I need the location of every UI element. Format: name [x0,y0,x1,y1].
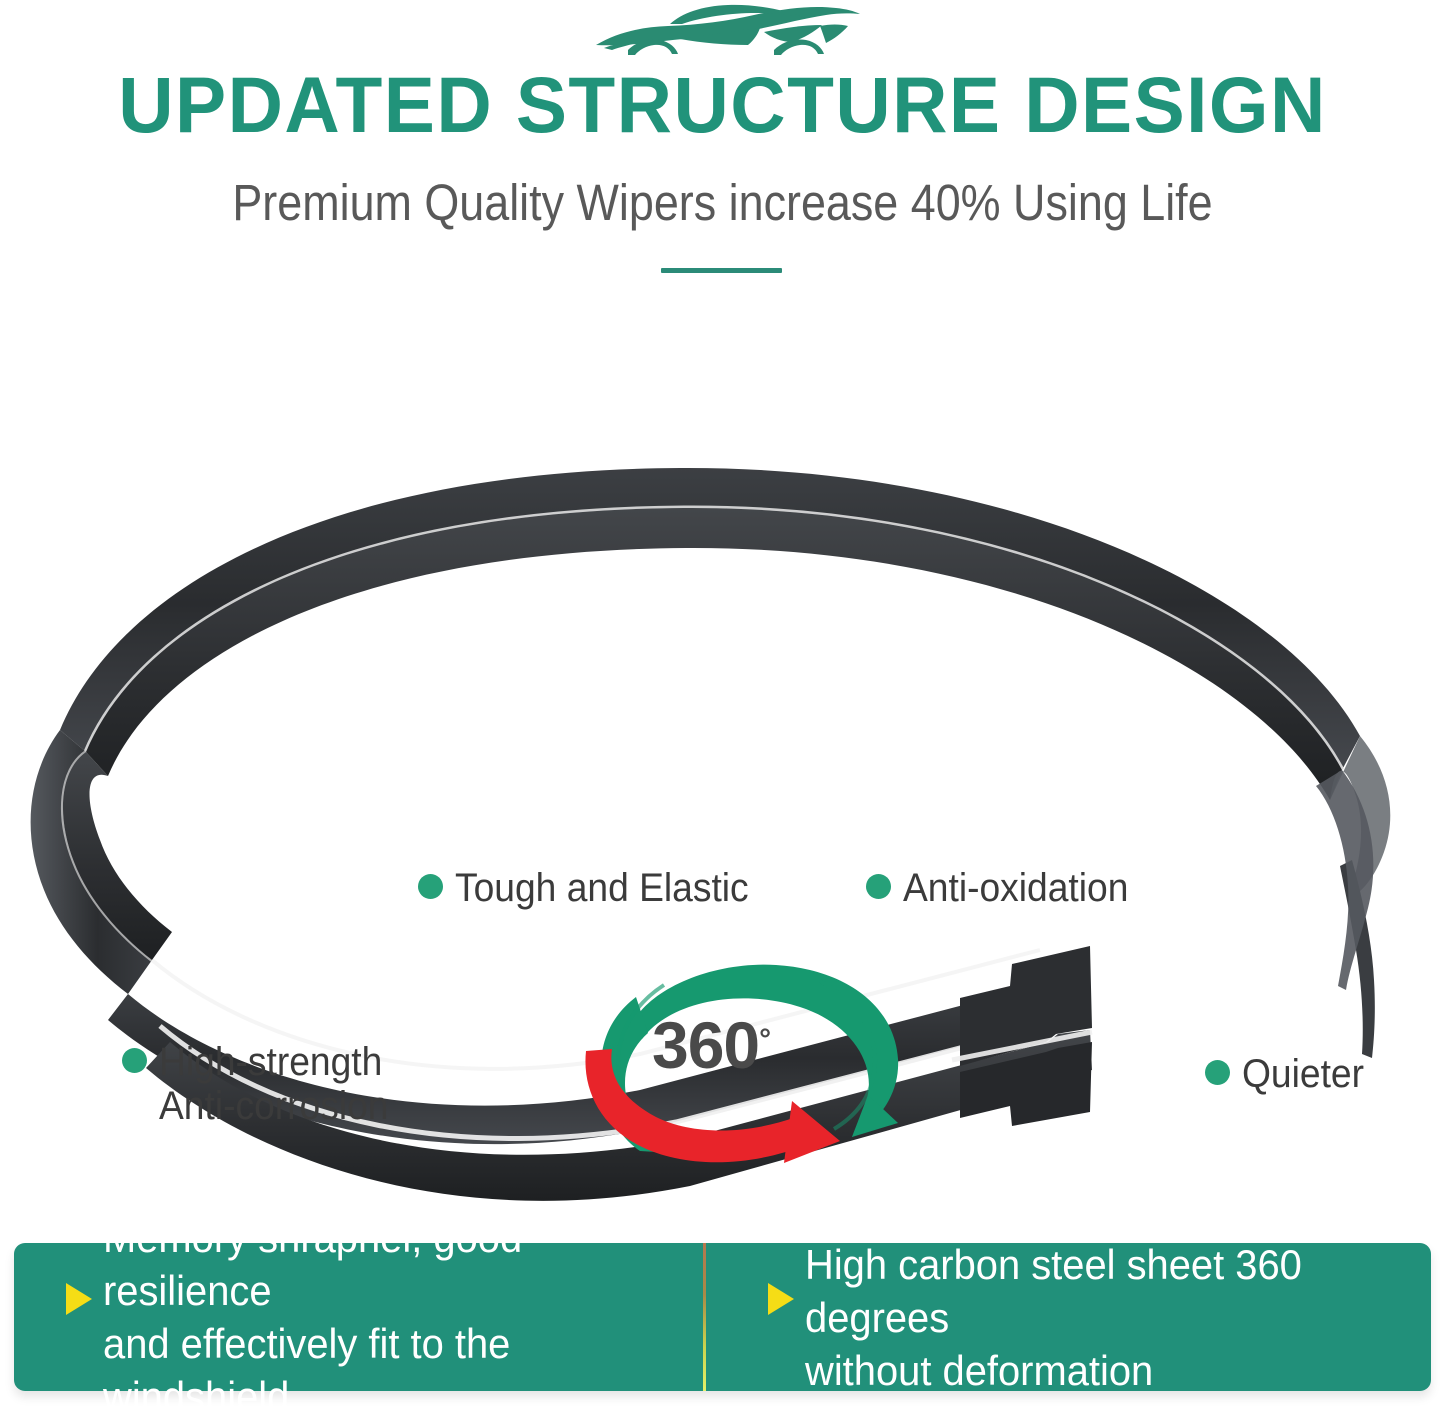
bullet-dot-icon [122,1048,147,1073]
car-silhouette-icon [578,2,868,60]
feature-quieter: Quieter [1205,1052,1373,1096]
feature-label: Quieter [1242,1052,1364,1096]
badge-value: 360° [652,1012,770,1078]
banner-item-text: Memory shrapnel, good resilience and eff… [103,1211,673,1423]
page-subtitle: Premium Quality Wipers increase 40% Usin… [87,172,1359,234]
banner-item-text: High carbon steel sheet 360 degrees with… [805,1238,1400,1397]
feature-high-strength-anti-corrosion: High-strength Anti-corrosion [122,1040,406,1128]
feature-anti-oxidation: Anti-oxidation [866,866,1145,910]
bottom-feature-banner: Memory shrapnel, good resilience and eff… [14,1243,1431,1391]
bullet-dot-icon [418,874,443,899]
feature-tough-and-elastic: Tough and Elastic [418,866,771,910]
feature-label: Anti-oxidation [903,866,1128,910]
triangle-right-icon [768,1283,794,1315]
bullet-dot-icon [866,874,891,899]
product-image-area: 360° Tough and Elastic Anti-oxidation Hi… [0,300,1445,1230]
banner-item-high-carbon-steel: High carbon steel sheet 360 degrees with… [706,1243,1431,1391]
feature-label: Tough and Elastic [455,866,749,910]
360-degree-badge: 360° [568,955,920,1170]
bullet-dot-icon [1205,1060,1230,1085]
feature-label: High-strength Anti-corrosion [159,1040,388,1128]
title-underline-rule [661,268,782,273]
page-title: UPDATED STRUCTURE DESIGN [22,62,1424,148]
header-section: UPDATED STRUCTURE DESIGN Premium Quality… [0,0,1445,300]
banner-item-memory-shrapnel: Memory shrapnel, good resilience and eff… [14,1243,703,1391]
triangle-right-icon [66,1283,92,1315]
degree-symbol: ° [759,1023,770,1056]
